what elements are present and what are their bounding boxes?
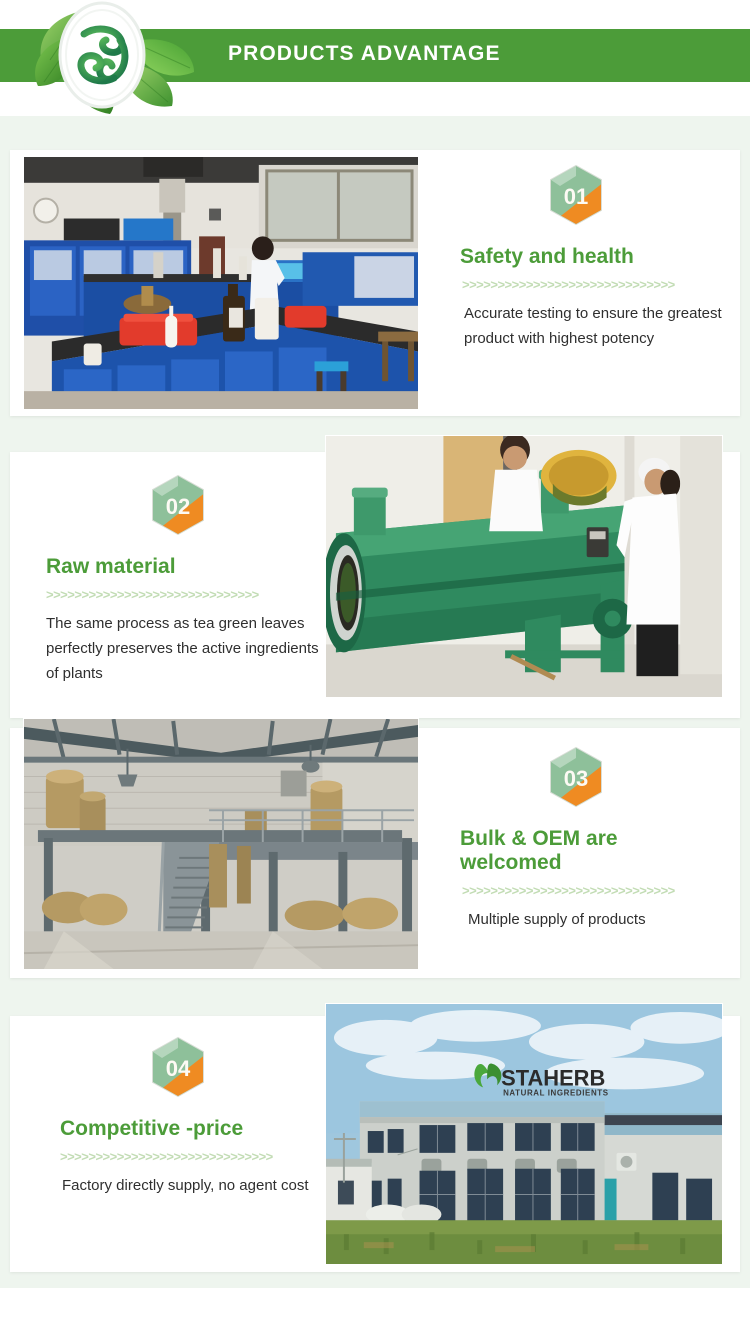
advantage-description-4: Factory directly supply, no agent cost	[62, 1173, 322, 1198]
chevron-divider-2: >>>>>>>>>>>>>>>>>>>>>>>>>>>>>>	[46, 588, 296, 601]
chevron-divider-3: >>>>>>>>>>>>>>>>>>>>>>>>>>>>>>	[462, 884, 712, 897]
advantage-text-3: 03 Bulk & OEM are welcomed >>>>>>>>>>>>>…	[450, 746, 740, 932]
products-advantage-page: PRODUCTS ADVANTAGE	[0, 0, 750, 1326]
page-header: PRODUCTS ADVANTAGE	[0, 0, 750, 116]
page-title: PRODUCTS ADVANTAGE	[228, 42, 501, 66]
advantage-text-2: 02 Raw material >>>>>>>>>>>>>>>>>>>>>>>>…	[38, 474, 338, 686]
hex-number-04: 04	[166, 1056, 191, 1081]
factory-building-photo: STAHERB NATURAL INGREDIENTS	[325, 1003, 723, 1265]
hex-badge-03-icon: 03	[548, 746, 740, 813]
extraction-plant-photo	[23, 718, 419, 970]
hex-badge-02-icon: 02	[150, 474, 338, 541]
advantage-title-3: Bulk & OEM are welcomed	[460, 827, 690, 875]
roasting-machine-photo	[325, 435, 723, 698]
advantage-title-4: Competitive -price	[60, 1117, 338, 1141]
leaf-circle-logo-icon	[22, 0, 212, 114]
advantage-text-1: 01 Safety and health >>>>>>>>>>>>>>>>>>>…	[450, 164, 730, 351]
advantage-card-2: 02 Raw material >>>>>>>>>>>>>>>>>>>>>>>>…	[10, 452, 740, 718]
chevron-divider-1: >>>>>>>>>>>>>>>>>>>>>>>>>>>>>>	[462, 278, 712, 291]
building-sign-tagline: NATURAL INGREDIENTS	[503, 1088, 609, 1097]
chevron-divider-4: >>>>>>>>>>>>>>>>>>>>>>>>>>>>>>	[60, 1150, 310, 1163]
advantage-text-4: 04 Competitive -price >>>>>>>>>>>>>>>>>>…	[38, 1036, 338, 1198]
hex-badge-01-icon: 01	[548, 164, 730, 231]
advantage-title-1: Safety and health	[460, 245, 730, 269]
advantage-description-2: The same process as tea green leaves per…	[46, 611, 331, 686]
building-sign-name: STAHERB	[501, 1065, 605, 1090]
hex-number-02: 02	[166, 494, 190, 519]
hex-number-03: 03	[564, 766, 588, 791]
bottom-strip	[0, 1288, 750, 1326]
advantage-description-1: Accurate testing to ensure the greatest …	[464, 301, 734, 351]
laboratory-photo	[23, 156, 419, 410]
advantage-card-4: STAHERB NATURAL INGREDIENTS	[10, 1016, 740, 1272]
advantage-description-3: Multiple supply of products	[468, 907, 718, 932]
advantage-card-1: 01 Safety and health >>>>>>>>>>>>>>>>>>>…	[10, 150, 740, 416]
hex-badge-04-icon: 04	[150, 1036, 338, 1103]
advantage-title-2: Raw material	[46, 555, 338, 579]
hex-number-01: 01	[564, 184, 588, 209]
advantage-card-3: 03 Bulk & OEM are welcomed >>>>>>>>>>>>>…	[10, 728, 740, 978]
